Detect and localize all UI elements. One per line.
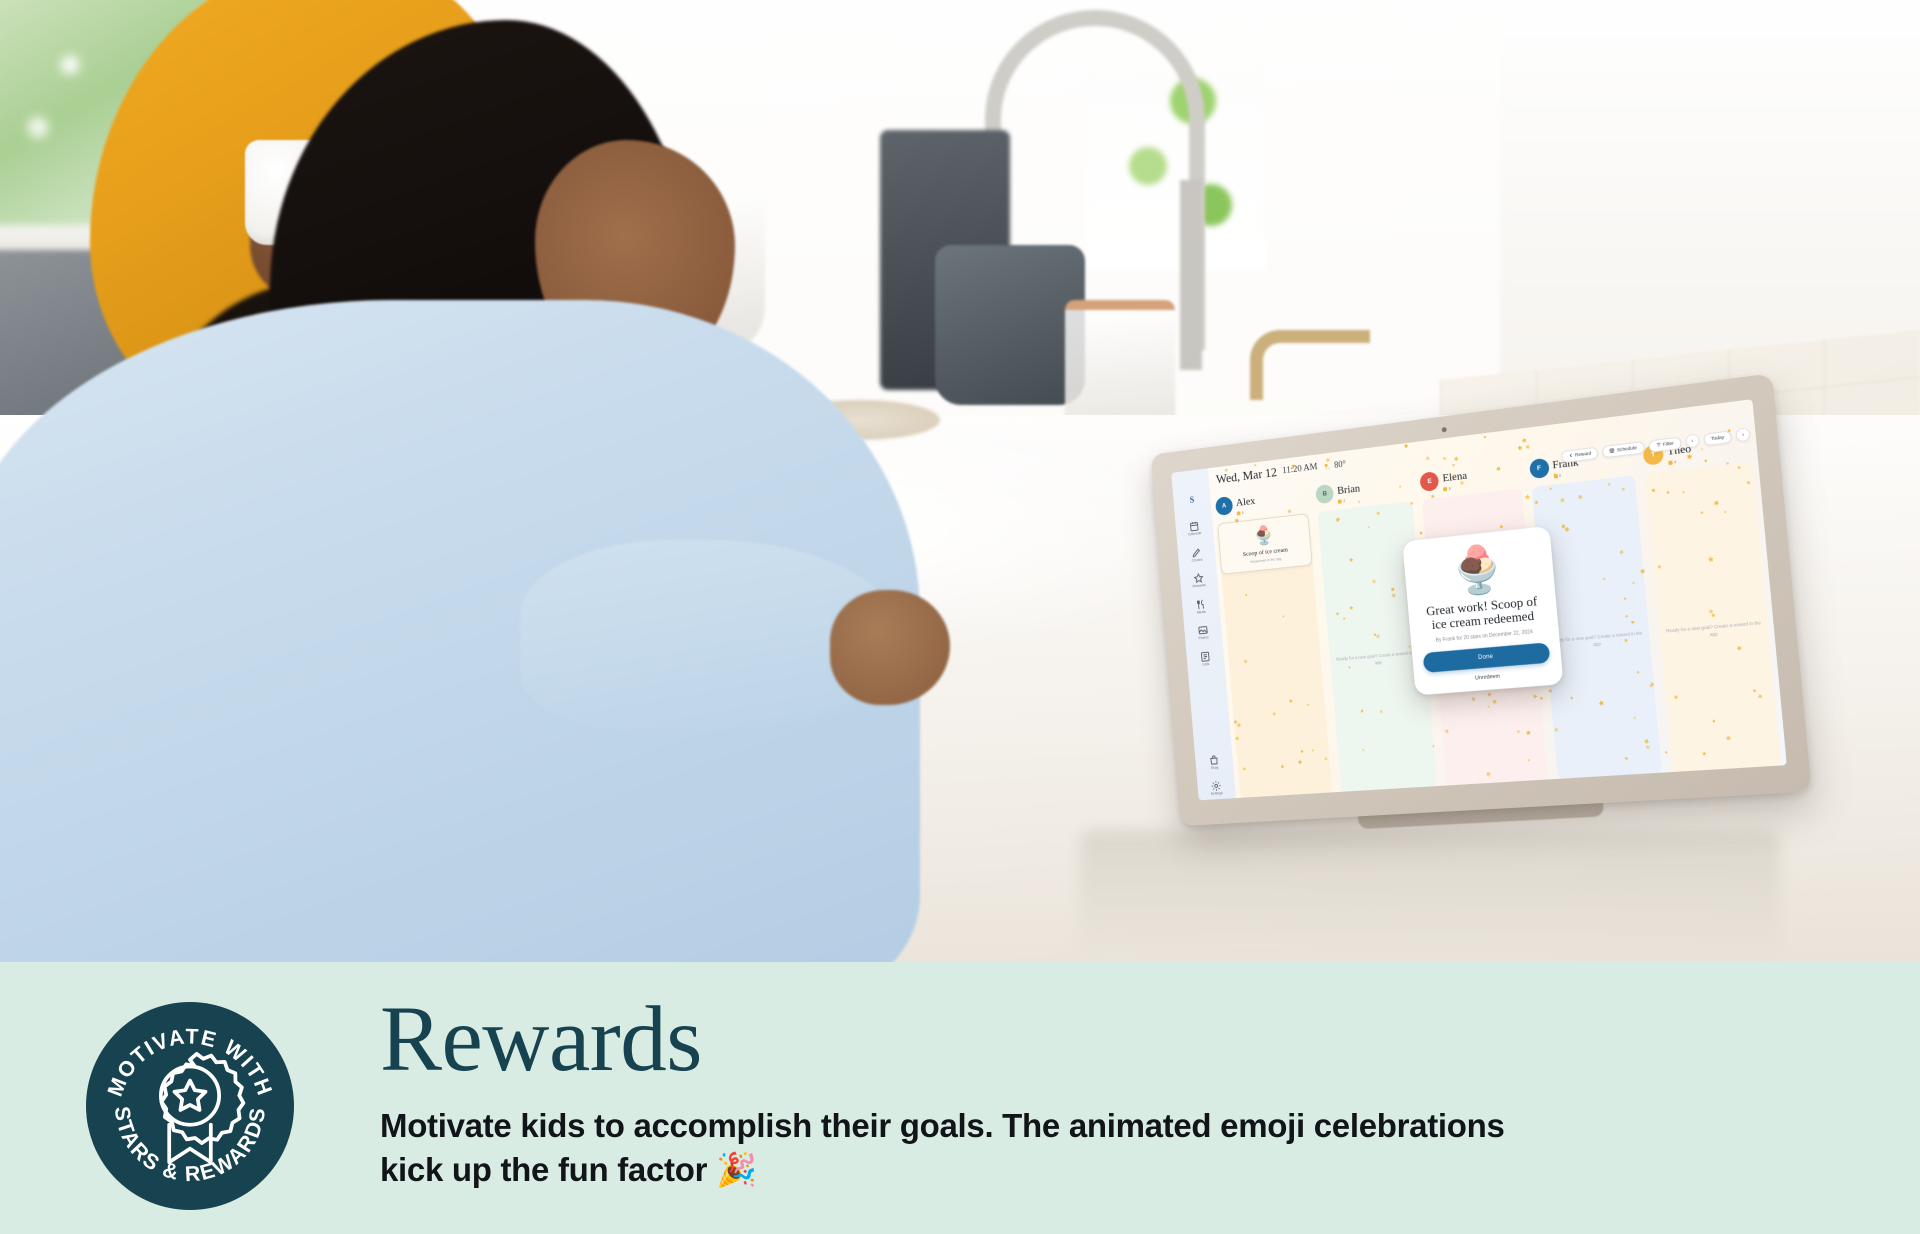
- modal-title: Great work! Scoop of ice cream redeemed: [1418, 593, 1546, 634]
- seal-container: MOTIVATE WITH STARS & REWARDS: [0, 984, 380, 1210]
- unredeem-link[interactable]: Unredeem: [1425, 670, 1552, 686]
- empty-placeholder-brian: Ready for a new goal? Create a reward in…: [1336, 650, 1421, 670]
- ice-cream-icon: 🍨: [1414, 540, 1544, 599]
- avatar-frank[interactable]: F: [1529, 458, 1550, 479]
- member-name-elena: Elena: [1442, 470, 1467, 485]
- band-copy: Rewards Motivate kids to accomplish thei…: [380, 984, 1560, 1191]
- star-count-value: 8: [1449, 487, 1451, 491]
- faucet-stem: [1180, 180, 1202, 370]
- star-dot-icon: [1443, 487, 1447, 491]
- motivate-seal-badge: MOTIVATE WITH STARS & REWARDS: [86, 1002, 294, 1210]
- reward-card-alex[interactable]: 🍨 Scoop of ice cream Redeemed in the app: [1217, 513, 1313, 575]
- nav-prev-button[interactable]: ‹: [1685, 433, 1700, 448]
- weather-widget: 80°: [1323, 459, 1347, 472]
- avatar-alex[interactable]: A: [1215, 496, 1233, 516]
- avatar-brian[interactable]: B: [1315, 484, 1334, 504]
- sidebar-label-chores: Chores: [1192, 558, 1203, 563]
- toolbar-label-schedule: Schedule: [1617, 445, 1637, 453]
- sidebar-label-rewards: Rewards: [1193, 584, 1206, 589]
- star-count-elena: 8: [1443, 485, 1468, 492]
- reward-redeemed-modal[interactable]: 🍨 Great work! Scoop of ice cream redeeme…: [1402, 525, 1563, 696]
- sidebar-item-lists[interactable]: Lists: [1186, 646, 1225, 671]
- sidebar-item-photos[interactable]: Photos: [1184, 620, 1223, 645]
- gooseneck-kettle: [935, 245, 1085, 405]
- star-count-value: 4: [1674, 460, 1676, 464]
- calendar-grid-icon: [1609, 448, 1615, 454]
- device-screen[interactable]: S Calendar Chores Rewards: [1171, 399, 1787, 800]
- sidebar-spacer: [1207, 674, 1213, 746]
- star-dot-icon: [1237, 511, 1241, 515]
- status-temperature: 80°: [1334, 459, 1347, 470]
- column-body-theo: Ready for a new goal? Create a reward in…: [1645, 462, 1782, 773]
- star-dot-icon: [1553, 474, 1557, 479]
- star-count-value: 3: [1343, 499, 1345, 503]
- star-count-frank: 6: [1553, 471, 1579, 478]
- sidebar-label-calendar: Calendar: [1188, 532, 1202, 537]
- sidebar-item-settings[interactable]: Settings: [1197, 777, 1236, 801]
- hero-photo: S Calendar Chores Rewards: [0, 0, 1920, 962]
- app-logo: S: [1189, 495, 1194, 505]
- app-main: Wed, Mar 12 11:20 AM 80° Reward: [1208, 399, 1787, 798]
- gear-icon: [1210, 780, 1222, 792]
- empty-placeholder-theo: Ready for a new goal? Create a reward in…: [1666, 620, 1763, 642]
- toolbar-label-filter: Filter: [1663, 441, 1674, 447]
- star-count-value: 5: [1242, 511, 1244, 515]
- empty-placeholder-frank: Ready for a new goal? Create a reward in…: [1551, 631, 1644, 652]
- sidebar-label-lists: Lists: [1202, 663, 1209, 667]
- star-count-value: 6: [1559, 474, 1561, 478]
- star-count-alex: 5: [1237, 509, 1256, 515]
- star-dot-icon: [1338, 499, 1342, 503]
- gold-tap: [1250, 330, 1370, 400]
- utensils-icon: [1195, 598, 1207, 610]
- bag-icon: [1208, 754, 1220, 766]
- device-bezel: S Calendar Chores Rewards: [1150, 373, 1811, 826]
- status-time: 11:20 AM: [1282, 462, 1318, 476]
- device-camera: [1442, 427, 1447, 433]
- sidebar-item-meals[interactable]: Meals: [1182, 594, 1221, 619]
- counter-reflection: [1080, 830, 1780, 960]
- rewards-band: MOTIVATE WITH STARS & REWARDS Rewards Mo…: [0, 962, 1920, 1234]
- star-dot-icon: [1668, 461, 1673, 466]
- nav-next-button[interactable]: ›: [1735, 427, 1750, 442]
- pencil-icon: [1191, 546, 1202, 558]
- sidebar-item-rewards[interactable]: Rewards: [1180, 568, 1219, 593]
- column-body-alex: 🍨 Scoop of ice cream Redeemed in the app: [1217, 513, 1332, 798]
- modal-card: 🍨 Great work! Scoop of ice cream redeeme…: [1402, 525, 1563, 696]
- family-organizer-device[interactable]: S Calendar Chores Rewards: [1150, 373, 1811, 826]
- toolbar-label-reward: Reward: [1575, 451, 1592, 458]
- partly-sunny-icon: [1323, 461, 1332, 471]
- star-count-brian: 3: [1338, 497, 1361, 504]
- member-name-brian: Brian: [1337, 483, 1361, 497]
- sidebar-label-meals: Meals: [1197, 611, 1206, 615]
- sidebar-item-shop[interactable]: Shop: [1195, 750, 1234, 774]
- nav-today-button[interactable]: Today: [1703, 430, 1732, 446]
- page-subtitle: Motivate kids to accomplish their goals.…: [380, 1104, 1560, 1191]
- sidebar-label-photos: Photos: [1198, 637, 1209, 641]
- avatar-elena[interactable]: E: [1420, 471, 1440, 492]
- sidebar-item-calendar[interactable]: Calendar: [1175, 516, 1214, 542]
- sidebar-label-shop: Shop: [1211, 766, 1219, 770]
- sidebar-item-chores[interactable]: Chores: [1177, 542, 1216, 567]
- filter-icon: [1655, 442, 1661, 448]
- status-date: Wed, Mar 12: [1215, 464, 1277, 487]
- star-count-theo: 4: [1668, 458, 1692, 465]
- page-root: S Calendar Chores Rewards: [0, 0, 1920, 1234]
- member-name-alex: Alex: [1236, 495, 1256, 509]
- list-icon: [1200, 651, 1212, 663]
- back-arrow-icon: [1568, 453, 1574, 459]
- done-button[interactable]: Done: [1423, 643, 1551, 674]
- page-title: Rewards: [380, 996, 1560, 1084]
- sidebar-label-settings: Settings: [1211, 793, 1223, 797]
